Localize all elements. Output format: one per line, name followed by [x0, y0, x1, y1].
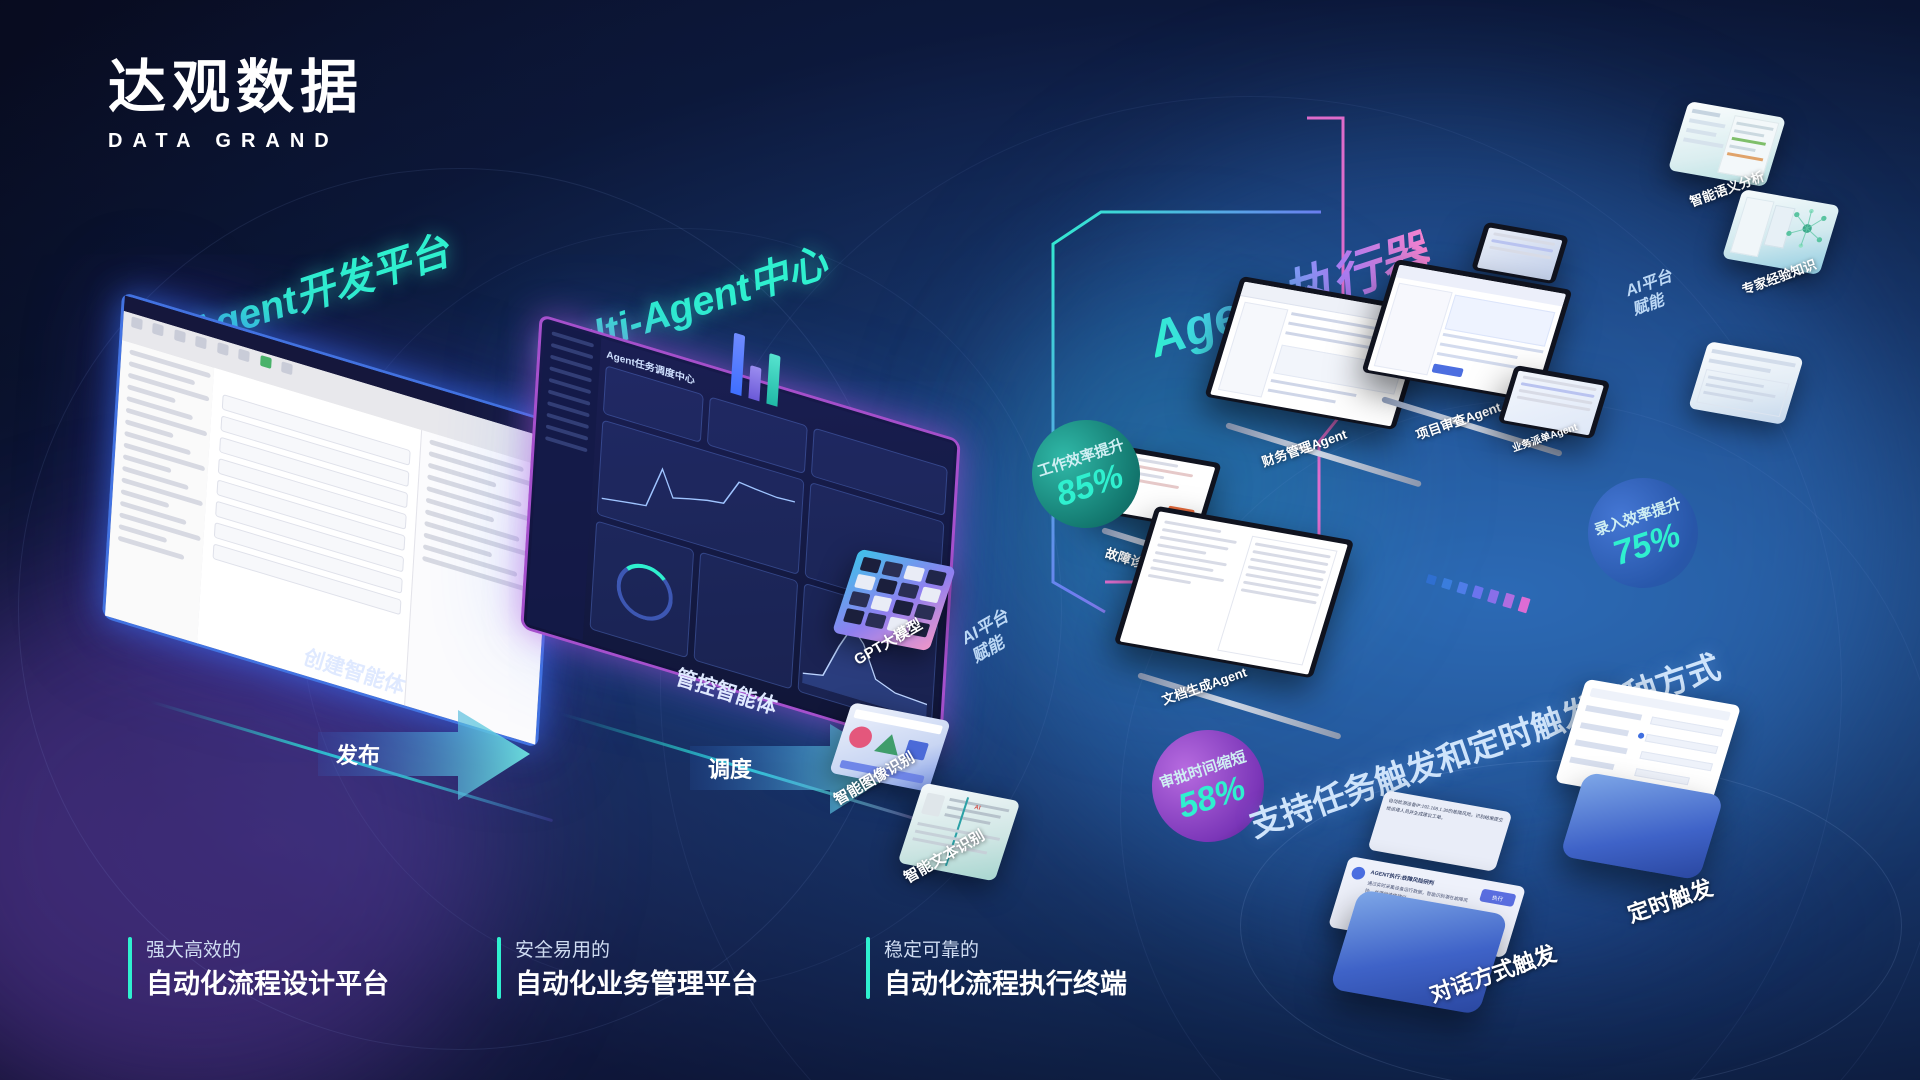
card-semantic-analysis	[1668, 101, 1786, 187]
card-knowledge-extra	[1688, 341, 1804, 425]
app-sidebar-tree	[105, 340, 215, 643]
brand-name-cn: 达观数据	[108, 58, 364, 116]
toolbar-icon[interactable]	[260, 355, 272, 369]
label-finance-agent: 财务管理Agent	[1259, 424, 1349, 471]
doc-line	[1155, 551, 1227, 566]
chat-execute-label: 执行	[1491, 893, 1504, 903]
footer-caption-3: 稳定可靠的 自动化流程执行终端	[866, 937, 1127, 1002]
footer-caption-2: 安全易用的 自动化业务管理平台	[497, 937, 758, 1002]
bar-column	[748, 365, 761, 401]
toolbar-icon[interactable]	[174, 329, 186, 343]
form-row	[1569, 757, 1614, 770]
card-expert-knowledge	[1722, 189, 1840, 275]
form-row-value	[1639, 751, 1713, 771]
bar-column	[766, 353, 780, 407]
dashboard-sidebar	[527, 321, 602, 640]
label-ai-platform-right: AI平台 赋能	[1623, 267, 1682, 321]
caption-big: 自动化业务管理平台	[515, 966, 758, 1002]
form-row-value	[1650, 717, 1724, 737]
chat-execute-button[interactable]: 执行	[1479, 889, 1517, 907]
chat-avatar	[1350, 866, 1367, 881]
stat-bubble-entry: 录入效率提升 75%	[1574, 464, 1713, 603]
toolbar-icon[interactable]	[153, 323, 165, 337]
brand-name-en: DATA GRAND	[108, 130, 364, 153]
caption-small: 强大高效的	[146, 937, 389, 966]
caption-accent-bar	[128, 937, 132, 999]
toolbar-icon[interactable]	[131, 316, 143, 330]
arrow-publish: 发布	[318, 710, 530, 806]
toolbar-icon[interactable]	[217, 342, 229, 356]
tree-item	[118, 536, 185, 561]
device-document-agent	[1114, 506, 1355, 679]
caption-small: 安全易用的	[515, 937, 758, 966]
arrow-dispatch-label: 调度	[708, 752, 752, 784]
toolbar-icon[interactable]	[281, 361, 293, 375]
toolbar-icon[interactable]	[238, 348, 250, 362]
device-monitor-dev-platform	[102, 292, 558, 749]
radio-selected-icon[interactable]	[1637, 732, 1645, 739]
footer-captions: 强大高效的 自动化流程设计平台 安全易用的 自动化业务管理平台 稳定可靠的 自动…	[128, 937, 1127, 1002]
stat-bubble-efficiency: 工作效率提升 85%	[1018, 406, 1154, 542]
caption-accent-bar	[866, 937, 870, 999]
caption-big: 自动化流程执行终端	[884, 966, 1127, 1002]
label-project-review-agent: 项目审查Agent	[1413, 397, 1503, 444]
document-agent-screen	[1120, 511, 1348, 674]
form-row	[1580, 722, 1629, 736]
bar-column	[730, 333, 745, 396]
form-row	[1585, 705, 1642, 721]
caption-big: 自动化流程设计平台	[146, 966, 389, 1002]
arrow-publish-label: 发布	[336, 738, 380, 770]
form-row	[1574, 739, 1627, 754]
form-row-value	[1645, 734, 1719, 754]
window-body	[105, 311, 554, 745]
chart-card-bars	[693, 552, 798, 690]
label-ai-platform-left: AI平台 赋能	[957, 605, 1022, 667]
tax-agent-screen	[1477, 227, 1563, 280]
caption-accent-bar	[497, 937, 501, 999]
brand-logo: 达观数据 DATA GRAND	[108, 58, 364, 153]
toolbar-icon[interactable]	[195, 336, 207, 350]
caption-small: 稳定可靠的	[884, 937, 1127, 966]
infographic-canvas: 达观数据 DATA GRAND Agent开发平台	[0, 0, 1920, 1080]
footer-caption-1: 强大高效的 自动化流程设计平台	[128, 937, 389, 1002]
progress-dots	[1426, 568, 1531, 613]
doc-line	[1148, 574, 1191, 584]
